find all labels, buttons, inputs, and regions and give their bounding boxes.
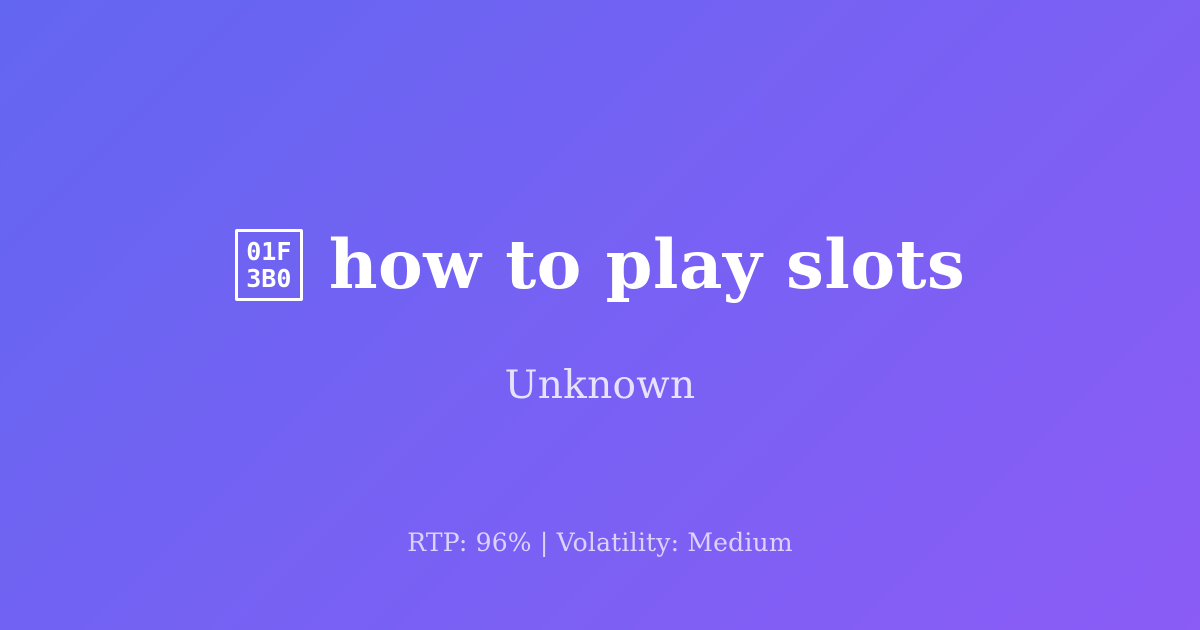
card-footer-meta: RTP: 96% | Volatility: Medium	[0, 527, 1200, 560]
title-row: 01F 3B0 how to play slots	[0, 229, 1200, 301]
page-title: how to play slots	[329, 230, 965, 300]
tofu-codepoint-top: 01F	[246, 238, 291, 265]
tofu-codepoint-bottom: 3B0	[246, 265, 291, 292]
slot-machine-icon: 01F 3B0	[235, 229, 303, 301]
card-subtitle: Unknown	[0, 363, 1200, 410]
og-share-card: 01F 3B0 how to play slots Unknown RTP: 9…	[0, 0, 1200, 630]
